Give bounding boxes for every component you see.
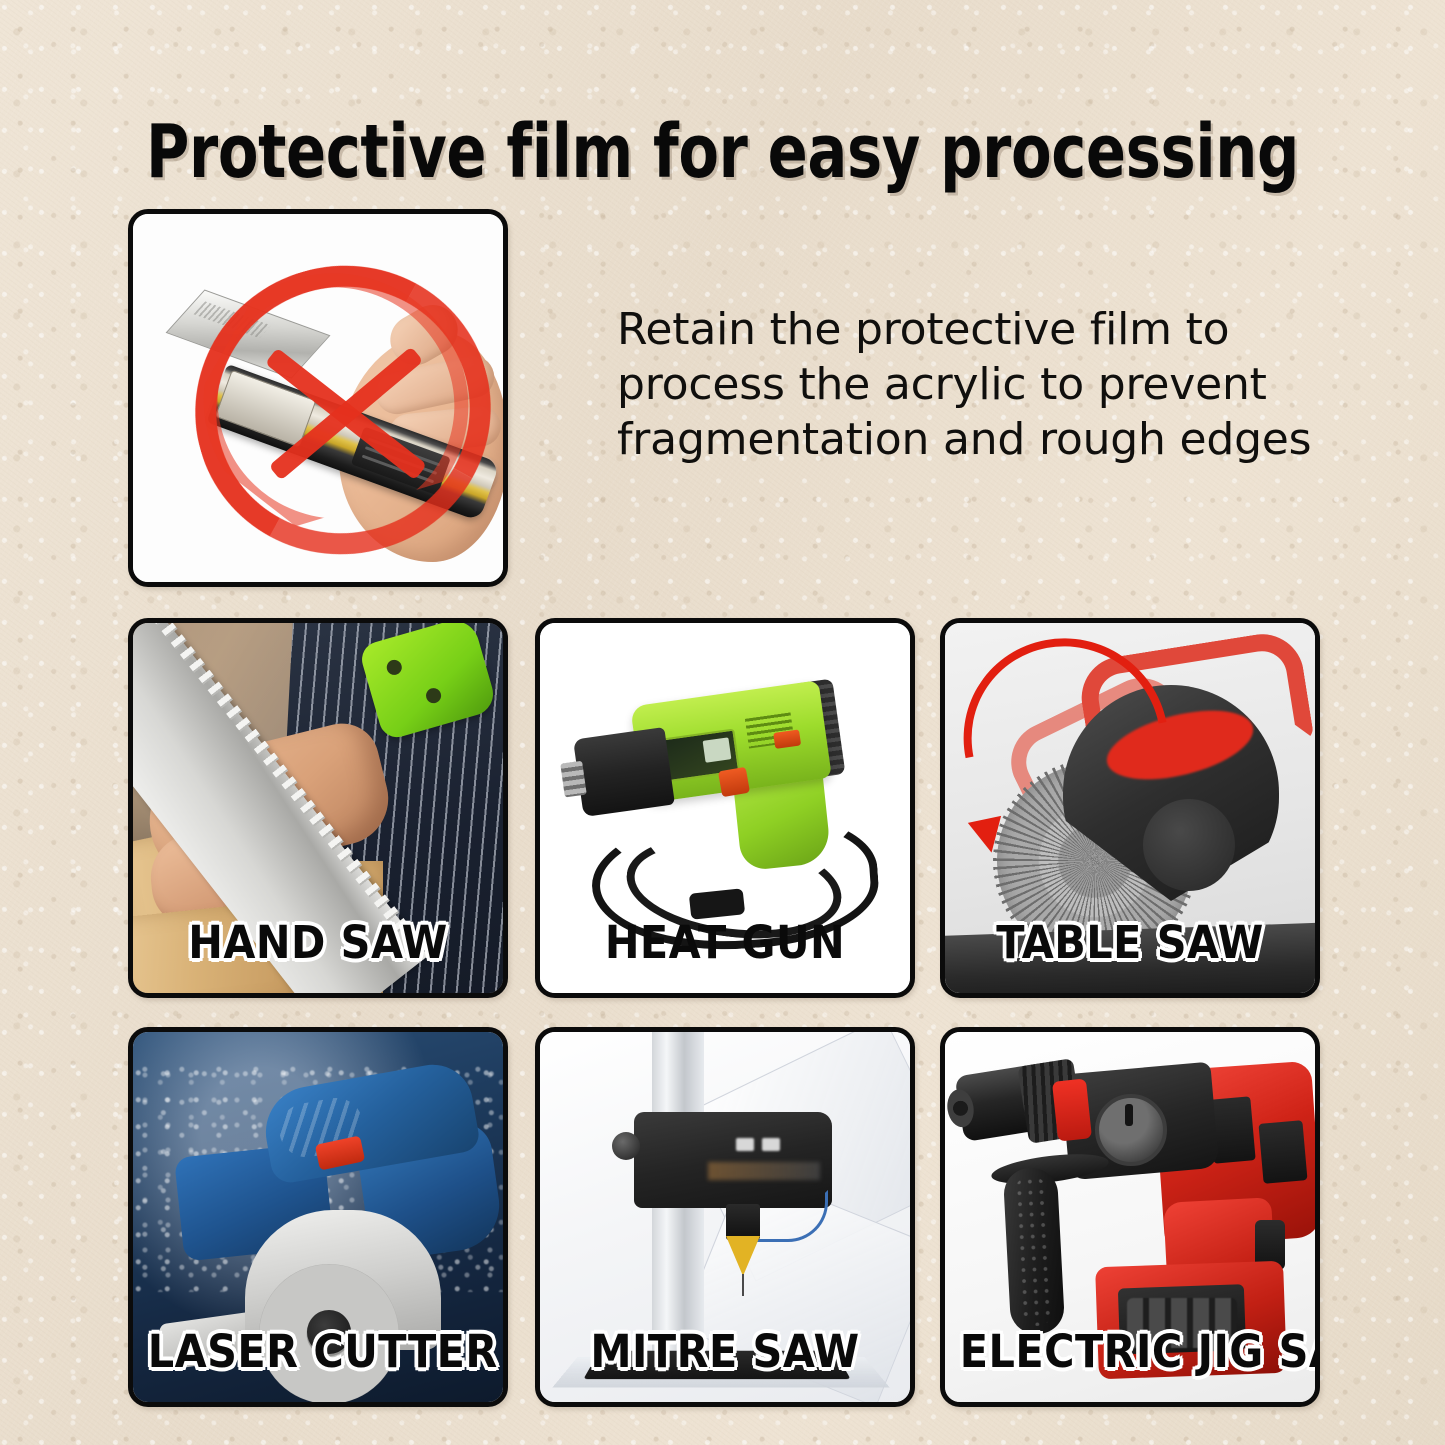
lead-paragraph: Retain the protective film to process th… — [617, 302, 1317, 467]
utility-knife-illustration — [133, 214, 503, 582]
tile-caption: MITRE SAW — [555, 1326, 895, 1378]
nozzle-needle — [742, 1274, 744, 1296]
rotation-arrow-icon — [968, 816, 1008, 856]
indicator-light — [762, 1138, 780, 1151]
side-handle — [1003, 1167, 1066, 1336]
tile-heat-gun: HEAT GUN — [535, 618, 915, 998]
indicator-light — [736, 1138, 754, 1151]
page-title: Protective film for easy processing — [145, 108, 1301, 196]
tile-table-saw: TABLE SAW — [940, 618, 1320, 998]
mode-lever — [1052, 1078, 1092, 1141]
tile-utility-knife-prohibited — [128, 209, 508, 587]
tile-caption: HEAT GUN — [555, 917, 895, 969]
nozzle-tip — [726, 1236, 760, 1276]
nozzle-neck — [726, 1204, 760, 1240]
adjustment-knob — [612, 1132, 640, 1160]
tile-laser-cutter: LASER CUTTER — [128, 1027, 508, 1407]
heat-gun-nozzle — [573, 727, 675, 817]
tile-mitre-saw: MITRE SAW — [535, 1027, 915, 1407]
blade-hub — [1143, 799, 1235, 891]
tile-caption: LASER CUTTER — [148, 1326, 488, 1378]
power-switch — [773, 729, 801, 748]
tile-caption: TABLE SAW — [960, 917, 1300, 969]
tile-hand-saw: HAND SAW — [128, 618, 508, 998]
trigger-button — [718, 767, 750, 797]
mode-selector-dial — [1095, 1094, 1167, 1166]
vent-slots — [1258, 1120, 1307, 1184]
tile-caption: HAND SAW — [148, 917, 488, 969]
tile-caption: ELECTRIC JIG SAW — [960, 1326, 1300, 1378]
tile-electric-jig-saw: ELECTRIC JIG SAW — [940, 1027, 1320, 1407]
label-band — [708, 1162, 820, 1180]
